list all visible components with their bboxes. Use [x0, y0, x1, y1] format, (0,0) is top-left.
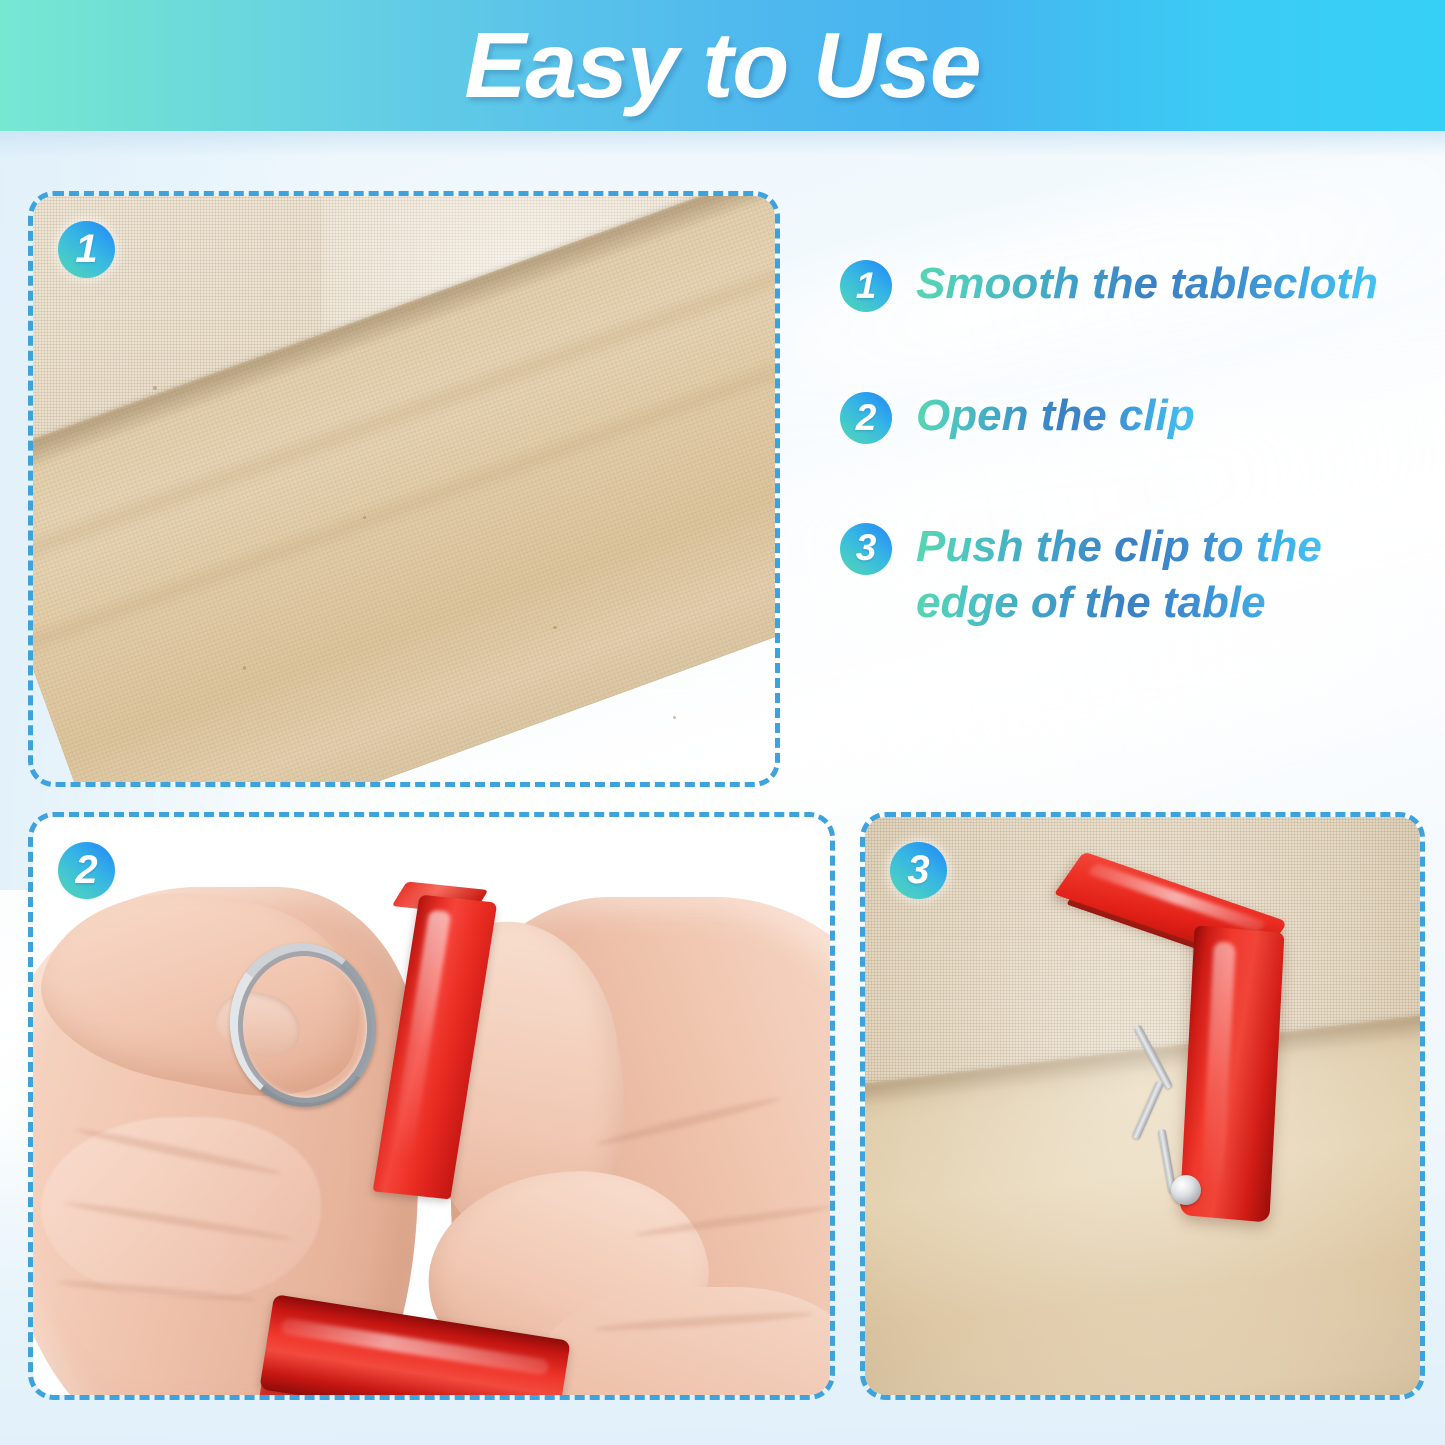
panel-1-photo — [33, 196, 775, 782]
step-item-3: 3 Push the clip to the edge of the table — [840, 519, 1440, 632]
panel-2-number: 2 — [58, 842, 115, 899]
clip-rivet — [1171, 1175, 1201, 1205]
step-item-2: 2 Open the clip — [840, 388, 1440, 444]
step-2-number: 2 — [840, 392, 892, 444]
panel-1-number: 1 — [58, 221, 115, 278]
fabric-speck — [363, 516, 366, 519]
step-1-badge: 1 — [840, 260, 892, 312]
panel-3-photo — [865, 817, 1420, 1395]
step-3-number: 3 — [840, 523, 892, 575]
step-2-label: Open the clip — [916, 388, 1195, 444]
header-banner: Easy to Use — [0, 0, 1445, 131]
panel-3-number: 3 — [890, 842, 947, 899]
panel-2-photo — [33, 817, 830, 1395]
page-title: Easy to Use — [0, 0, 1445, 131]
panel-3-number-badge: 3 — [890, 842, 947, 899]
infographic-canvas: Easy to Use 1 — [0, 0, 1445, 1445]
step-panel-2: 2 — [28, 812, 835, 1400]
step-2-badge: 2 — [840, 392, 892, 444]
header-underglow — [0, 131, 1445, 157]
fabric-speck — [553, 626, 557, 629]
step-3-badge: 3 — [840, 523, 892, 575]
step-item-1: 1 Smooth the tablecloth — [840, 256, 1440, 312]
step-panel-1: 1 — [28, 191, 780, 787]
fabric-speck — [243, 666, 246, 670]
panel-2-number-badge: 2 — [58, 842, 115, 899]
panel-1-number-badge: 1 — [58, 221, 115, 278]
step-3-label: Push the clip to the edge of the table — [916, 519, 1322, 632]
clip-vertical-gloss — [1201, 941, 1236, 1193]
step-1-number: 1 — [840, 260, 892, 312]
step-panel-3: 3 — [860, 812, 1425, 1400]
fabric-speck — [153, 386, 157, 390]
step-list: 1 Smooth the tablecloth 2 Open the clip … — [840, 256, 1440, 641]
fabric-speck — [673, 716, 676, 719]
step-1-label: Smooth the tablecloth — [916, 256, 1378, 312]
